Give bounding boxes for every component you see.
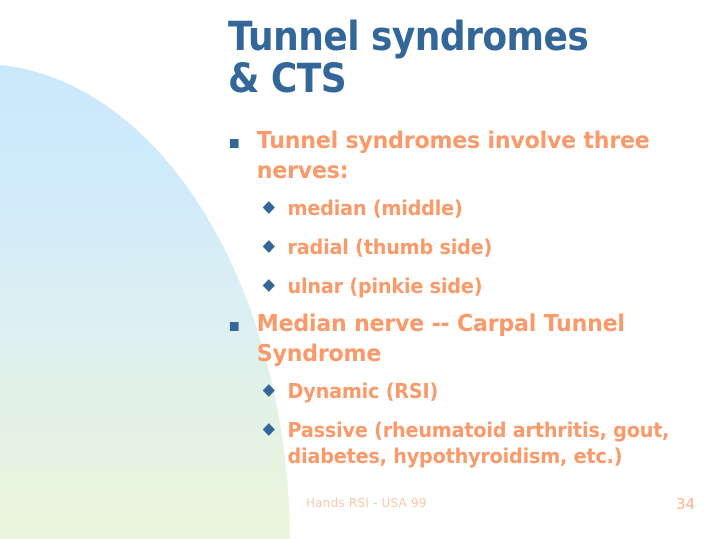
diamond-bullet-icon <box>263 240 275 253</box>
bullet-text-level2: ulnar (pinkie side) <box>288 274 483 298</box>
bullet-item-level2: Dynamic (RSI) <box>228 378 687 404</box>
bullet-text-level2: median (middle) <box>288 196 463 220</box>
page-title: Tunnel syndromes & CTS <box>228 16 651 100</box>
slide-body: Tunnel syndromes involve three nerves: m… <box>228 126 706 469</box>
bullet-item-level1: Tunnel syndromes involve three nerves: <box>228 126 687 186</box>
bullet-item-level2: median (middle) <box>228 195 687 221</box>
slide: Tunnel syndromes & CTS Tunnel syndromes … <box>0 0 719 539</box>
diamond-bullet-icon <box>263 384 275 397</box>
diamond-bullet-icon <box>263 279 275 292</box>
diamond-bullet-icon <box>263 201 275 214</box>
square-bullet-icon <box>230 322 239 331</box>
bullet-text-level2: Dynamic (RSI) <box>288 379 439 403</box>
diamond-bullet-icon <box>263 423 275 436</box>
bullet-text-level1: Median nerve -- Carpal Tunnel Syndrome <box>257 311 625 367</box>
bullet-item-level2: radial (thumb side) <box>228 234 687 260</box>
footer-note: Hands RSI - USA 99 <box>306 496 427 510</box>
bullet-item-level2: ulnar (pinkie side) <box>228 273 687 299</box>
page-number: 34 <box>676 495 695 513</box>
square-bullet-icon <box>230 139 239 148</box>
bullet-text-level2: Passive (rheumatoid arthritis, gout, dia… <box>288 418 670 468</box>
bullet-item-level2: Passive (rheumatoid arthritis, gout, dia… <box>228 417 687 469</box>
bullet-text-level1: Tunnel syndromes involve three nerves: <box>257 128 650 184</box>
bullet-item-level1: Median nerve -- Carpal Tunnel Syndrome <box>228 309 687 369</box>
bullet-text-level2: radial (thumb side) <box>288 235 493 259</box>
